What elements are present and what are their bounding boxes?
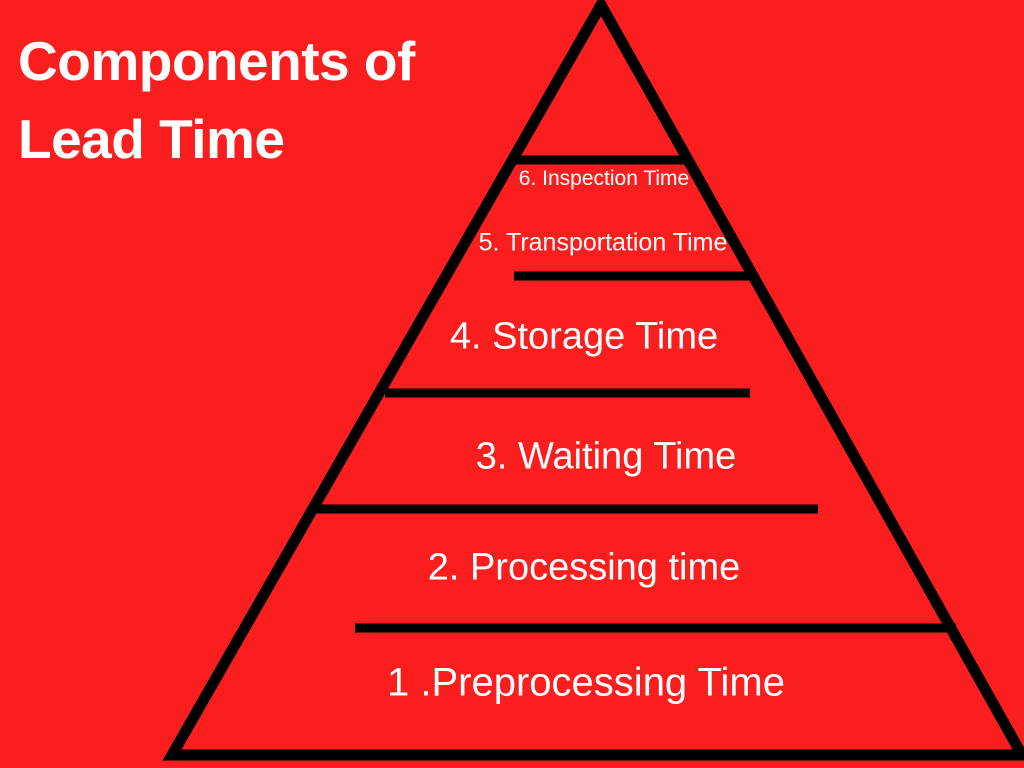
slide-canvas: Components of Lead Time 6. Inspection Ti… [0,0,1024,768]
pyramid-level-4-label: 4. Storage Time [450,316,718,359]
pyramid-level-1-label: 1 .Preprocessing Time [387,661,785,706]
pyramid-level-6-label: 6. Inspection Time [519,167,689,191]
page-title: Components of Lead Time [18,22,518,178]
pyramid-level-5-label: 5. Transportation Time [479,229,728,258]
pyramid-level-3-label: 3. Waiting Time [476,436,736,479]
pyramid-level-2-label: 2. Processing time [428,547,741,590]
